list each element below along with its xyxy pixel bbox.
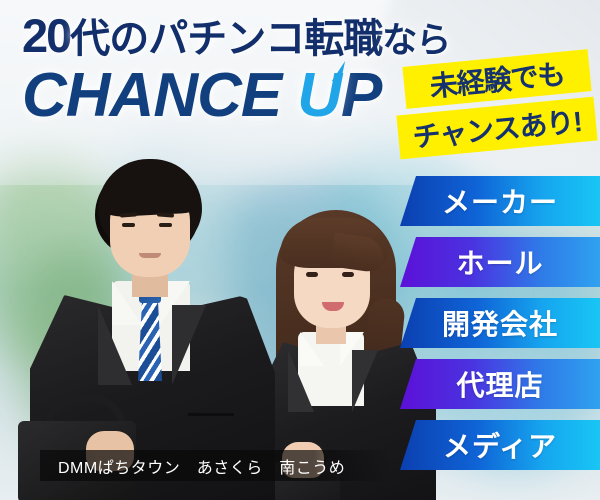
- woman-lapel-left: [288, 350, 314, 412]
- man-eye-left: [122, 223, 135, 227]
- person-man: [20, 155, 280, 500]
- category-list: メーカー ホール 開発会社 代理店 メディア: [400, 176, 600, 470]
- category-button-hall[interactable]: ホール: [400, 237, 600, 287]
- man-mouth: [139, 253, 161, 258]
- logo-up-p: P: [341, 61, 381, 130]
- category-label: ホール: [456, 242, 543, 282]
- caption-text: DMMぱちタウン あさくら 南こうめ: [40, 454, 345, 478]
- category-label: 開発会社: [442, 303, 558, 343]
- category-button-media[interactable]: メディア: [400, 420, 600, 470]
- category-label: メーカー: [442, 181, 558, 221]
- category-button-developer[interactable]: 開発会社: [400, 298, 600, 348]
- caption-bar: DMMぱちタウン あさくら 南こうめ: [40, 450, 392, 481]
- man-lapel-right: [172, 305, 206, 385]
- category-button-maker[interactable]: メーカー: [400, 176, 600, 226]
- headline-block: 20代のパチンコ転職なら CHANCEUP: [22, 12, 450, 127]
- woman-fringe: [280, 218, 388, 268]
- headline-line-1: 20代のパチンコ転職なら: [22, 12, 450, 59]
- woman-eye-left: [306, 272, 318, 277]
- man-eye-right: [159, 223, 172, 227]
- people-photo: [0, 155, 430, 500]
- category-label: 代理店: [456, 364, 543, 404]
- logo-chance: CHANCE: [22, 61, 281, 130]
- logo-up-u: U: [297, 65, 341, 127]
- category-label: メディア: [443, 425, 557, 465]
- category-button-agency[interactable]: 代理店: [400, 359, 600, 409]
- woman-lapel-right: [352, 350, 378, 412]
- headline-tail: なら: [382, 21, 450, 60]
- headline-number: 20: [22, 9, 70, 62]
- man-lapel-left: [98, 305, 132, 385]
- promo-banner: 20代のパチンコ転職なら CHANCEUP 未経験でも チャンスあり! メーカー…: [0, 0, 600, 500]
- headline-middle: 代のパチンコ転職: [70, 17, 382, 61]
- logo-chance-up: CHANCEUP: [22, 65, 450, 127]
- woman-eye-right: [342, 272, 354, 277]
- man-pocket: [188, 413, 234, 416]
